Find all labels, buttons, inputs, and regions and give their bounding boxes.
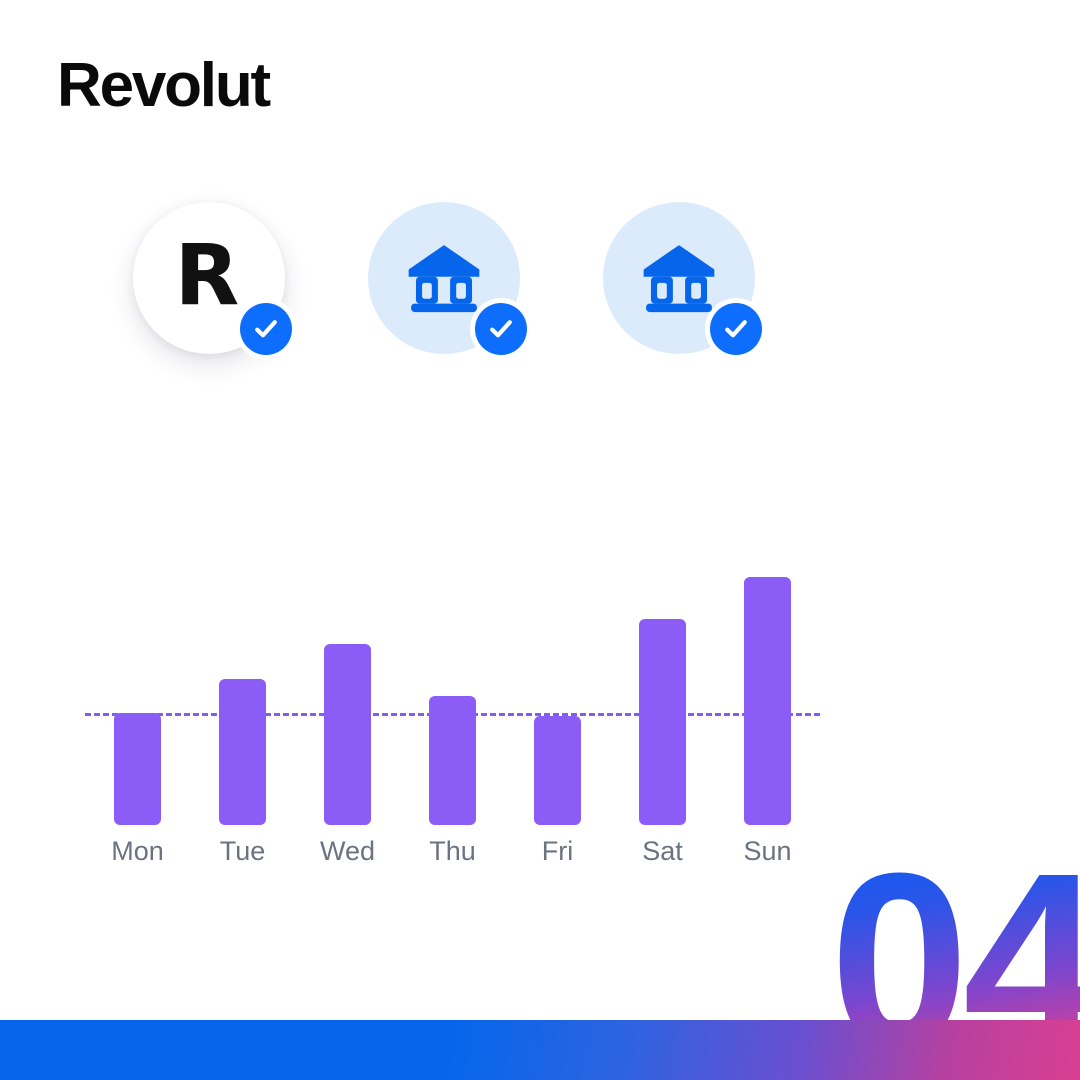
chart-x-label: Wed — [320, 836, 375, 867]
bank-icon — [405, 242, 483, 314]
check-icon — [475, 303, 527, 355]
chart-x-label: Fri — [542, 836, 573, 867]
chart-x-axis-labels: MonTueWedThuFriSatSun — [85, 836, 820, 876]
account-badge-bank-2[interactable] — [603, 202, 755, 354]
chart-x-label: Sat — [642, 836, 683, 867]
chart-bar[interactable] — [219, 679, 266, 825]
chart-x-label: Tue — [220, 836, 266, 867]
account-badge-revolut[interactable]: R — [133, 202, 285, 354]
chart-bar[interactable] — [114, 713, 161, 825]
verified-check-badge — [235, 298, 297, 360]
chart-bar[interactable] — [324, 644, 371, 825]
chart-bar[interactable] — [429, 696, 476, 825]
check-icon — [240, 303, 292, 355]
verified-accounts-row: R — [0, 198, 1080, 398]
verified-check-badge — [705, 298, 767, 360]
chart-bar[interactable] — [639, 619, 686, 825]
chart-bar[interactable] — [744, 577, 791, 825]
chart-bar[interactable] — [534, 716, 581, 825]
footer-gradient-bar — [0, 1020, 1080, 1080]
brand-wordmark: Revolut — [57, 55, 269, 117]
bank-icon — [640, 242, 718, 314]
chart-plot-area — [85, 540, 820, 825]
slide-canvas: Revolut R — [0, 0, 1080, 1080]
chart-x-label: Mon — [111, 836, 164, 867]
chart-x-label: Thu — [429, 836, 476, 867]
verified-check-badge — [470, 298, 532, 360]
check-icon — [710, 303, 762, 355]
revolut-r-icon: R — [175, 233, 240, 317]
chart-x-label: Sun — [743, 836, 791, 867]
account-badge-bank-1[interactable] — [368, 202, 520, 354]
